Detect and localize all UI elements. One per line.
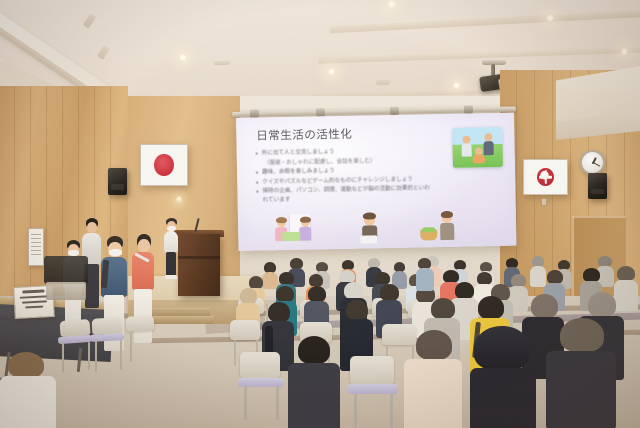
audience-member (546, 318, 616, 428)
auditorium-photo: 日常生活の活性化 外に出て人と交流しましょう （服装・おしゃれに配慮し、会話を楽… (0, 0, 640, 428)
slide-illustration-strip (268, 206, 484, 246)
equipment-cart (44, 256, 88, 284)
illustration-person-cooking (268, 206, 483, 210)
audience-chair-seat[interactable] (348, 384, 398, 394)
slide-illustration-outdoors (452, 127, 503, 168)
illustration-two-people-talking (268, 206, 483, 210)
illustration-person-with-basket (268, 206, 483, 210)
audience-chair[interactable] (350, 356, 394, 384)
ceiling-downlight (545, 14, 555, 22)
wall-speaker-left (108, 168, 127, 195)
presenter-standing (163, 218, 179, 280)
wall-clock (580, 150, 605, 175)
ceiling-downlight (327, 68, 336, 75)
japanese-flag (140, 144, 188, 186)
audience-member (288, 336, 340, 428)
ceiling-vent (97, 45, 110, 60)
hinomaru-disc (154, 154, 173, 176)
audience-chair[interactable] (230, 320, 260, 340)
black-hat (474, 326, 530, 370)
ceiling-downlight (452, 82, 461, 89)
audience-member-with-hat (470, 326, 536, 428)
ceiling-vent (214, 61, 230, 66)
podium-trim (178, 256, 220, 259)
ceiling-vent (376, 80, 390, 85)
audience-chair[interactable] (240, 352, 280, 378)
slide-bullet: 掃除の企画、パソコン、調理、運動などが脳の活動に効果的といわれています (256, 185, 434, 205)
wall-sconce-left (176, 196, 182, 205)
ceiling-downlight (620, 48, 629, 55)
folding-chair[interactable] (126, 315, 155, 331)
wall-notice-left (28, 228, 44, 266)
city-emblem (537, 168, 554, 186)
audience-member (416, 258, 434, 290)
podium (178, 234, 220, 296)
wall-speaker-right (588, 173, 607, 199)
ceiling-downlight (386, 0, 397, 8)
folding-chair[interactable] (92, 317, 123, 335)
slide-title: 日常生活の活性化 (256, 126, 352, 144)
audience-member (404, 330, 462, 428)
slide-bullet-list: 外に出て人と交流しましょう （服装・おしゃれに配慮し、会話を楽しむ） 趣味、余暇… (256, 146, 435, 206)
cart-shelf (46, 282, 86, 300)
wall-outlet (541, 198, 547, 206)
city-emblem-flag (523, 159, 568, 195)
projection-screen: 日常生活の活性化 外に出て人と交流しましょう （服装・おしゃれに配慮し、会話を楽… (236, 113, 517, 251)
ceiling-downlight (178, 54, 188, 61)
ceiling-vent (83, 13, 97, 29)
audience-member-foreground (0, 352, 56, 428)
